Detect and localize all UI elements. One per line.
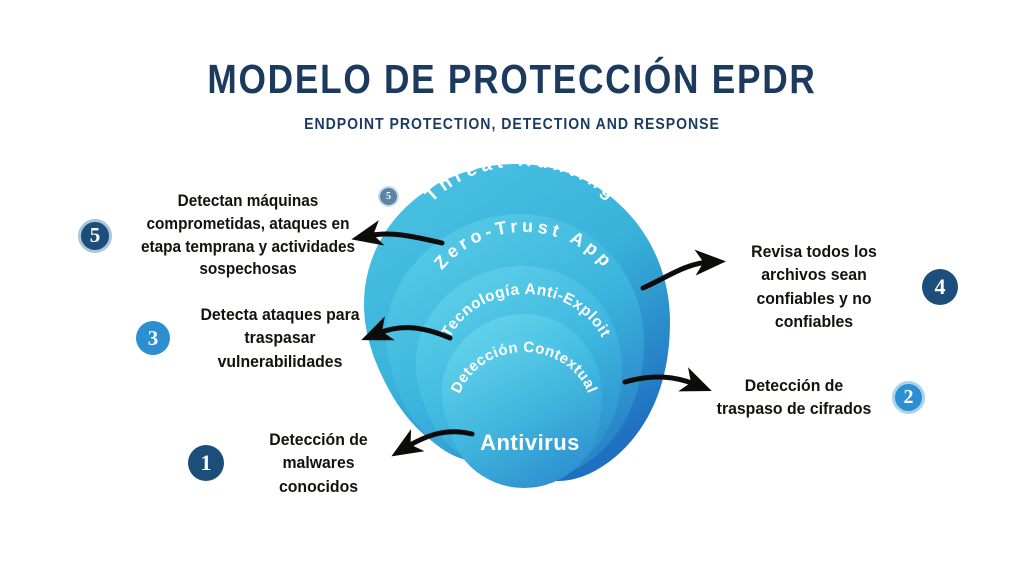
callout-1[interactable]: 1 Detección de malwares conocidos	[188, 428, 403, 498]
callout-4-text: Revisa todos los archivos sean confiable…	[725, 240, 904, 334]
callout-2-text: Detección de traspaso de cifrados	[712, 374, 876, 421]
callout-1-text: Detección de malwares conocidos	[242, 428, 395, 498]
infographic-canvas: MODELO DE PROTECCIÓN EPDR ENDPOINT PROTE…	[0, 0, 1024, 576]
mini-marker-5: 5	[378, 186, 399, 207]
callout-1-badge: 1	[188, 445, 224, 481]
callout-3[interactable]: 3 Detecta ataques para traspasar vulnera…	[136, 303, 386, 373]
callout-4-badge: 4	[922, 269, 958, 305]
page-subtitle: ENDPOINT PROTECTION, DETECTION AND RESPO…	[61, 116, 962, 134]
callout-3-text: Detecta ataques para traspasar vulnerabi…	[187, 303, 373, 373]
callout-2[interactable]: Detección de traspaso de cifrados 2	[706, 374, 928, 421]
callout-4[interactable]: Revisa todos los archivos sean confiable…	[718, 240, 968, 334]
callout-5-text: Detectan máquinas comprometidas, ataques…	[131, 190, 365, 281]
layer-label-antivirus: Antivirus	[480, 430, 580, 455]
page-title: MODELO DE PROTECCIÓN EPDR	[72, 56, 953, 103]
callout-5-badge: 5	[78, 219, 112, 253]
callout-5[interactable]: 5 Detectan máquinas comprometidas, ataqu…	[78, 190, 378, 281]
callout-2-badge: 2	[892, 381, 925, 414]
callout-3-badge: 3	[136, 321, 170, 355]
